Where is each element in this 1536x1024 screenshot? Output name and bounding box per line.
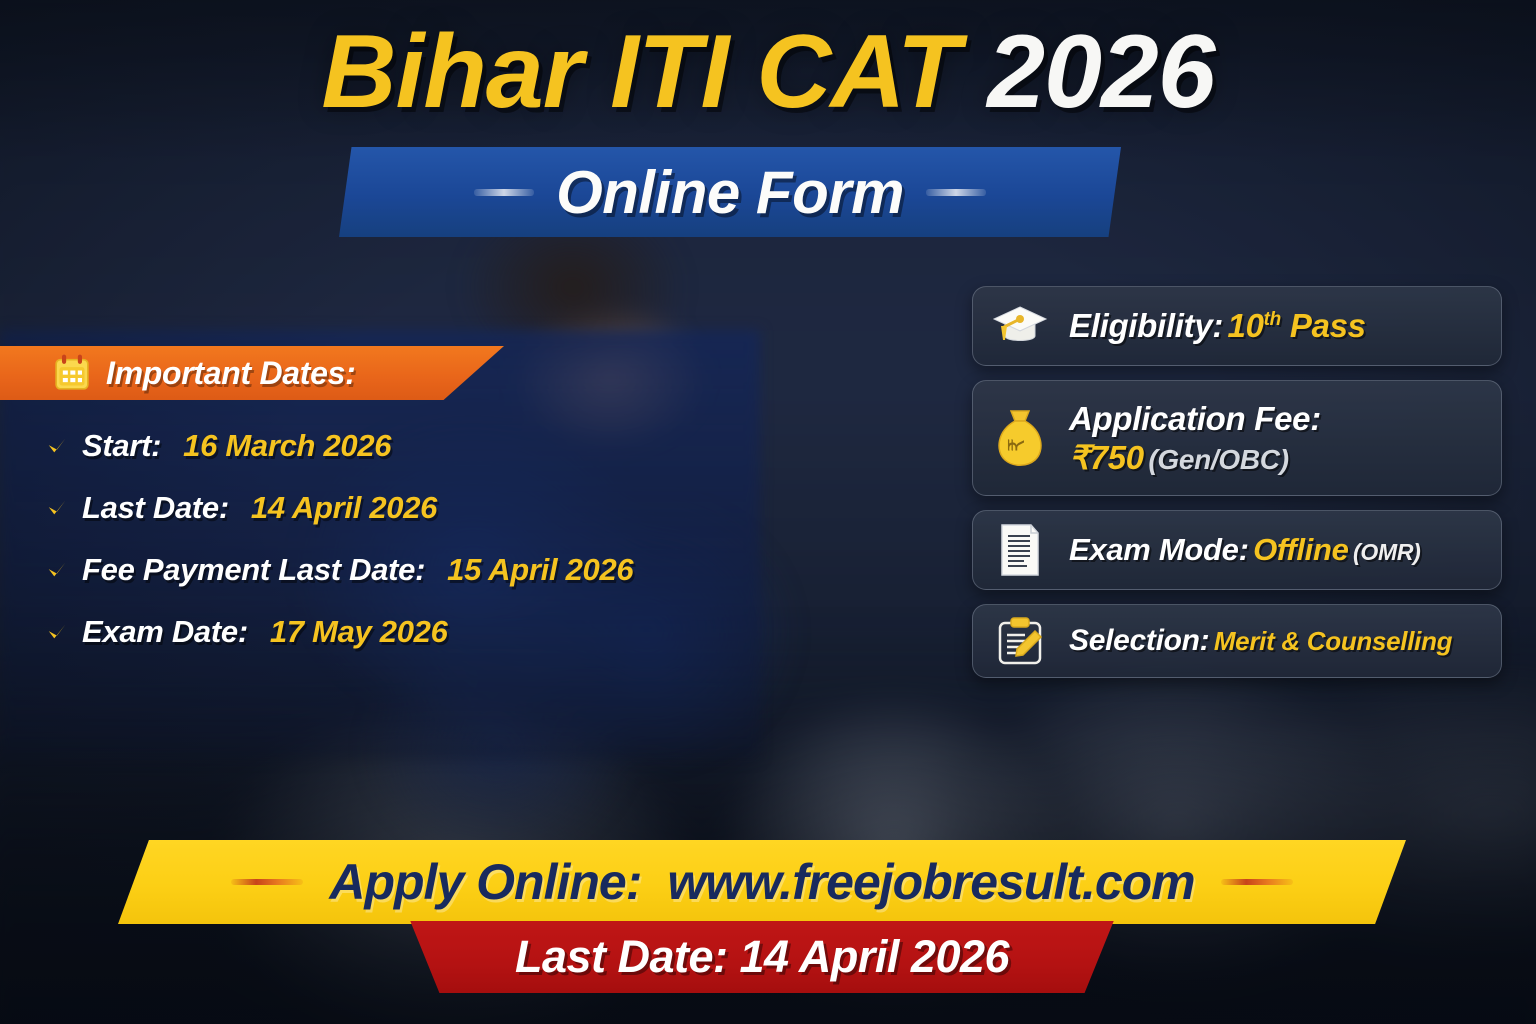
calendar-icon (52, 353, 92, 393)
last-date-text: Last Date: 14 April 2026 (515, 931, 1009, 983)
list-item: Start: 16 March 2026 (46, 428, 706, 464)
card-selection: Selection: Merit & Counselling (972, 604, 1502, 678)
poster-root: Bihar ITI CAT 2026 Online Form Important… (0, 0, 1536, 1024)
money-bag-icon: ₹ (989, 407, 1051, 469)
important-dates-list: Start: 16 March 2026 Last Date: 14 April… (46, 428, 706, 676)
important-dates-ribbon: Important Dates: (0, 346, 504, 400)
card-exam-mode-value: Offline (1253, 532, 1349, 567)
title-year: 2026 (987, 14, 1214, 130)
date-label: Exam Date: (82, 614, 248, 650)
dash-right-decor (1221, 879, 1293, 885)
list-item: Last Date: 14 April 2026 (46, 490, 706, 526)
card-application-fee: ₹ Application Fee: ₹750 (Gen/OBC) (972, 380, 1502, 496)
card-selection-label: Selection: (1069, 624, 1209, 657)
apply-online-banner[interactable]: Apply Online: www.freejobresult.com (118, 840, 1406, 924)
date-value: 15 April 2026 (447, 552, 633, 588)
page-title: Bihar ITI CAT 2026 (0, 18, 1536, 127)
last-date-banner: Last Date: 14 April 2026 (378, 921, 1146, 993)
list-item: Fee Payment Last Date: 15 April 2026 (46, 552, 706, 588)
card-fee-value: ₹750 (1069, 439, 1144, 476)
check-tick-icon (46, 621, 68, 643)
date-label: Fee Payment Last Date: (82, 552, 425, 588)
card-exam-mode-note: (OMR) (1353, 539, 1420, 565)
card-fee-label: Application Fee: (1069, 400, 1321, 437)
apply-online-url[interactable]: www.freejobresult.com (667, 853, 1194, 911)
card-fee-note: (Gen/OBC) (1148, 444, 1288, 475)
online-form-label: Online Form (556, 158, 904, 227)
title-main: Bihar ITI CAT (321, 14, 959, 130)
card-exam-mode-text: Exam Mode: Offline (OMR) (1069, 532, 1485, 568)
dash-left-decor (474, 189, 534, 196)
online-form-banner: Online Form (339, 147, 1121, 237)
card-exam-mode: Exam Mode: Offline (OMR) (972, 510, 1502, 590)
date-value: 16 March 2026 (183, 428, 391, 464)
apply-online-label: Apply Online: (329, 853, 641, 911)
card-application-fee-text: Application Fee: ₹750 (Gen/OBC) (1069, 400, 1485, 477)
check-tick-icon (46, 497, 68, 519)
dash-left-decor (231, 879, 303, 885)
card-selection-value: Merit & Counselling (1214, 626, 1452, 656)
date-value: 17 May 2026 (270, 614, 448, 650)
info-cards: Eligibility: 10th Pass ₹ Application Fee… (972, 286, 1502, 692)
date-value: 14 April 2026 (251, 490, 437, 526)
card-selection-text: Selection: Merit & Counselling (1069, 624, 1485, 658)
list-item: Exam Date: 17 May 2026 (46, 614, 706, 650)
svg-text:₹: ₹ (1005, 438, 1030, 452)
graduation-cap-icon (989, 302, 1051, 350)
check-tick-icon (46, 435, 68, 457)
card-eligibility-text: Eligibility: 10th Pass (1069, 307, 1485, 345)
card-eligibility-value: 10th Pass (1228, 307, 1366, 344)
dash-right-decor (926, 189, 986, 196)
important-dates-title: Important Dates: (106, 355, 355, 392)
check-tick-icon (46, 559, 68, 581)
clipboard-pencil-icon (989, 615, 1051, 667)
card-exam-mode-label: Exam Mode: (1069, 532, 1249, 567)
document-paper-icon (989, 522, 1051, 578)
date-label: Start: (82, 428, 161, 464)
date-label: Last Date: (82, 490, 229, 526)
card-eligibility: Eligibility: 10th Pass (972, 286, 1502, 366)
card-eligibility-label: Eligibility: (1069, 307, 1223, 344)
